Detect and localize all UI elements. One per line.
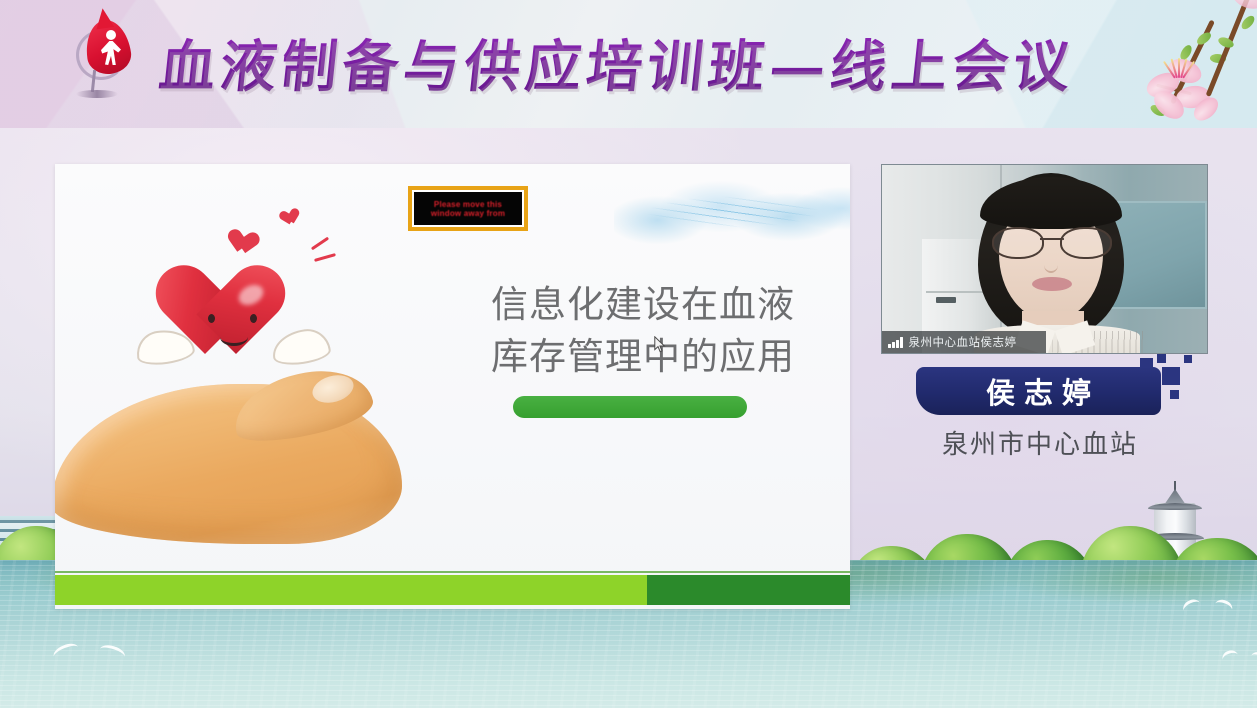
webcam-video-tile[interactable]: 泉州中心血站侯志婷 [881, 164, 1208, 354]
slide-title-line-2: 库存管理中的应用 [453, 331, 833, 383]
meeting-screenshot-root: 血液制备与供应培训班—线上会议 [0, 0, 1257, 708]
speaker-affiliation: 泉州市中心血站 [890, 424, 1190, 461]
webcam-name-label: 泉州中心血站侯志婷 [882, 331, 1046, 353]
presentation-slide[interactable]: Please move this window away from [55, 164, 850, 609]
mouse-pointer-icon [654, 336, 666, 353]
warning-line-2: window away from [431, 209, 505, 218]
slide-footer-bar-dark [647, 575, 850, 605]
speaker-name: 侯志婷 [977, 370, 1100, 412]
warning-line-1: Please move this [431, 200, 505, 209]
signal-bars-icon [888, 337, 903, 348]
blood-drop-logo-icon [70, 18, 142, 110]
eyeglasses-icon [992, 227, 1112, 257]
winged-heart [180, 268, 286, 366]
warning-overlay-box: Please move this window away from [408, 186, 528, 231]
hand-holding-winged-heart-icon [60, 224, 410, 564]
webcam-label-text: 泉州中心血站侯志婷 [909, 334, 1017, 350]
speaker-nameplate: 侯志婷 [916, 367, 1161, 415]
cloud-scribble-lines [620, 192, 846, 232]
slide-title: 信息化建设在血液 库存管理中的应用 [453, 279, 833, 383]
green-accent-bar [513, 396, 747, 418]
slide-title-line-1: 信息化建设在血液 [453, 279, 833, 331]
slide-hairline-divider [55, 571, 850, 573]
header-banner: 血液制备与供应培训班—线上会议 [0, 0, 1257, 128]
banner-title: 血液制备与供应培训班—线上会议 [155, 14, 1145, 110]
